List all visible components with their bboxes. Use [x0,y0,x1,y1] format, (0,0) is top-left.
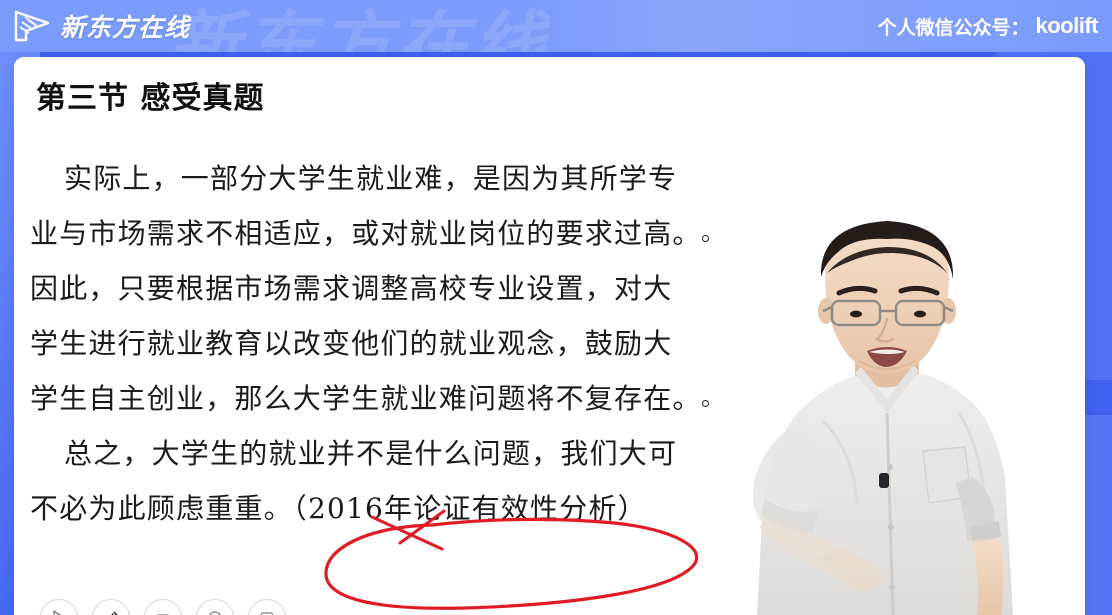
cursor-tool-button[interactable] [40,599,78,615]
pen-icon [102,609,120,615]
note-tool-button[interactable] [248,599,286,615]
header-bar: 新东方在线 新东方在线 个人微信公众号： koolift [0,0,1112,52]
wechat-label: 个人微信公众号： [877,13,1029,40]
slide-body-text: 实际上，一部分大学生就业难，是因为其所学专 业与市场需求不相适应，或对就业岗位的… [30,151,790,536]
annotation-toolbar[interactable] [40,599,286,615]
brand-logo[interactable]: 新东方在线 [12,8,190,44]
text-line: 实际上，一部分大学生就业难，是因为其所学专 [30,151,790,206]
text-line: 因此，只要根据市场需求调整高校专业设置，对大 [30,261,790,316]
marker-dot [702,235,709,242]
cursor-icon [50,609,68,615]
slide-content-card: 第三节 感受真题 实际上，一部分大学生就业难，是因为其所学专 业与市场需求不相适… [14,57,1085,615]
eraser-tool-button[interactable] [144,599,182,615]
presenter-video-overlay [727,215,1057,615]
wechat-handle: koolift [1036,13,1099,39]
page-title: 第三节 感受真题 [36,73,264,117]
note-icon [258,609,276,615]
eraser-icon [154,609,172,615]
brand-watermark: 新东方在线 [168,0,548,52]
text-line: 业与市场需求不相适应，或对就业岗位的要求过高。 [30,206,790,261]
wechat-promo: 个人微信公众号： koolift [877,0,1098,52]
marker-dot [702,400,709,407]
text-line: 学生进行就业教育以改变他们的就业观念，鼓励大 [30,316,790,371]
text-line: 总之，大学生的就业并不是什么问题，我们大可 [30,426,790,481]
shape-tool-button[interactable] [196,599,234,615]
pennant-logo-icon [12,9,52,43]
brand-name: 新东方在线 [60,8,190,44]
lecture-slide: 新东方在线 新东方在线 个人微信公众号： koolift 第三节 感受真题 实际… [0,0,1112,615]
text-line: 学生自主创业，那么大学生就业难问题将不复存在。 [30,371,790,426]
shape-icon [206,609,224,615]
pen-tool-button[interactable] [92,599,130,615]
text-line: 不必为此顾虑重重。（2016年论证有效性分析） [30,481,790,536]
